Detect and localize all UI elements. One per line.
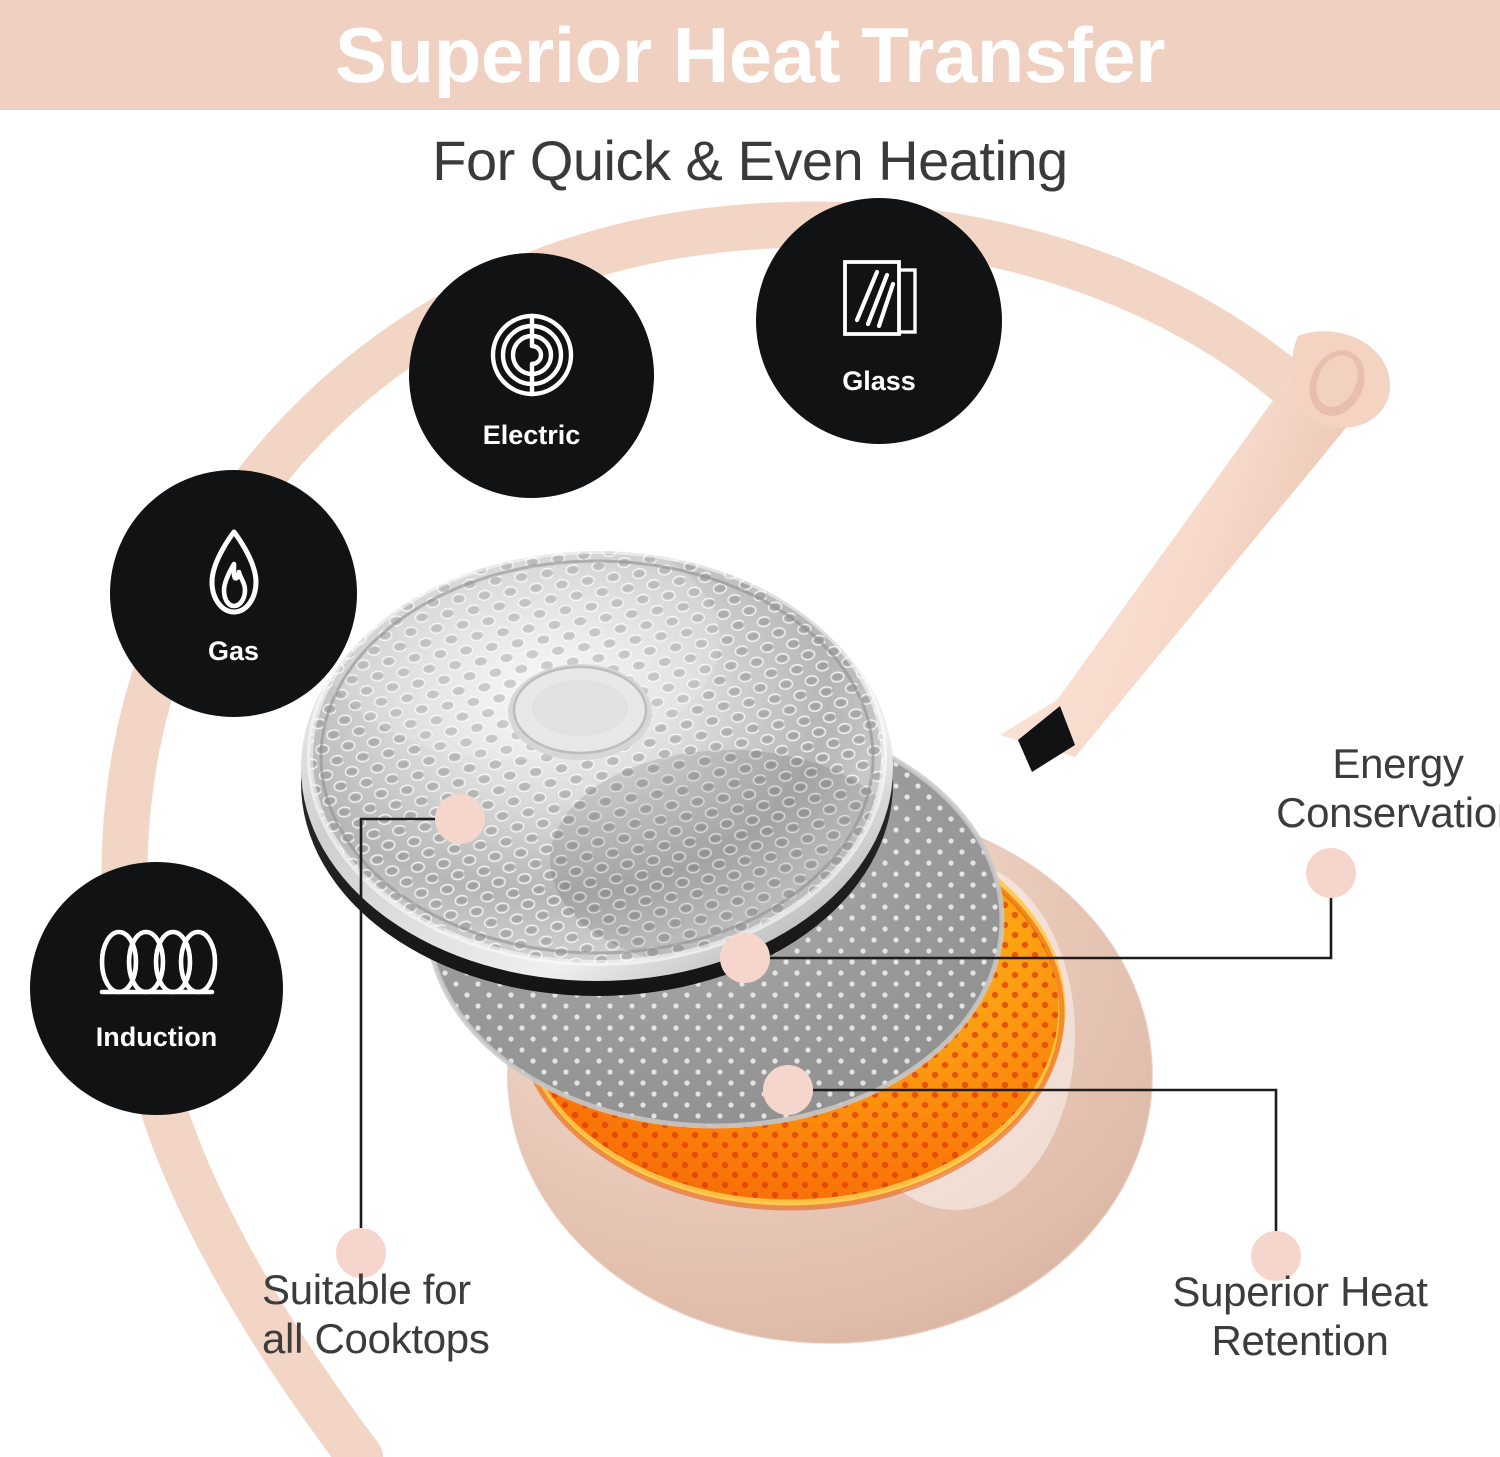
leader-retention	[788, 1090, 1276, 1248]
dot-retention-anchor	[763, 1065, 813, 1115]
dot-energy-label	[1306, 848, 1356, 898]
callout-suitable-all-cooktops: Suitable for all Cooktops	[262, 1266, 572, 1363]
infographic-canvas: Superior Heat Transfer For Quick & Even …	[0, 0, 1500, 1457]
callout-superior-heat-retention: Superior Heat Retention	[1130, 1268, 1470, 1365]
callout-line-2: all Cooktops	[262, 1315, 572, 1364]
dot-cooktops-anchor	[435, 794, 485, 844]
leader-cooktops	[361, 819, 460, 1242]
callout-line-2: Conservation	[1248, 789, 1500, 838]
callout-leader-lines	[0, 0, 1500, 1457]
dot-energy-anchor	[720, 933, 770, 983]
callout-energy-conservation: Energy Conservation	[1248, 740, 1500, 837]
leader-energy	[745, 880, 1331, 958]
callout-line-1: Superior Heat	[1130, 1268, 1470, 1317]
callout-line-1: Energy	[1248, 740, 1500, 789]
callout-line-1: Suitable for	[262, 1266, 572, 1315]
callout-line-2: Retention	[1130, 1317, 1470, 1366]
